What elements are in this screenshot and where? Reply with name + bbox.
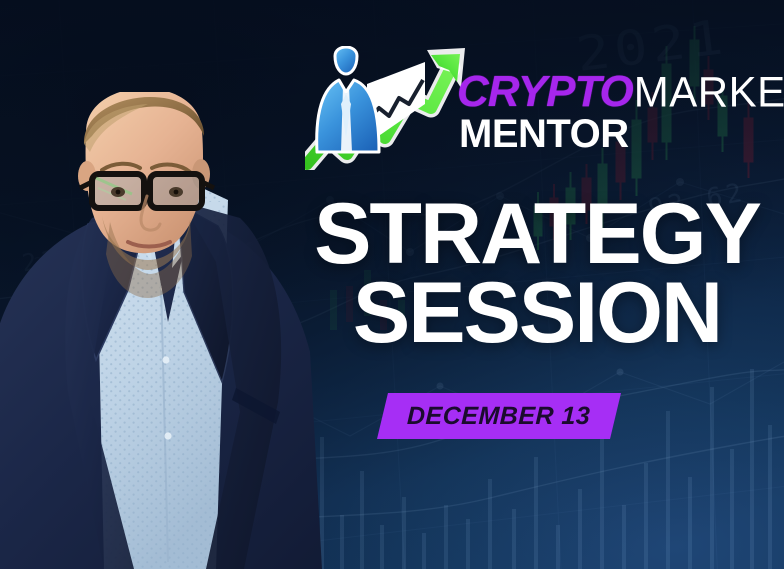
date-banner-label: DECEMBER 13 xyxy=(407,402,591,431)
logo-word-mentor: MENTOR xyxy=(459,114,777,154)
logo-mark-icon xyxy=(305,46,469,170)
headline-line-session: SESSION xyxy=(290,275,784,352)
logo-word-crypto: CRYPTO xyxy=(457,72,633,112)
logo-word-market: MARKET xyxy=(634,73,784,112)
date-banner: DECEMBER 13 xyxy=(377,393,621,439)
headline-line-strategy: STRATEGY xyxy=(290,196,784,273)
brand-logo: CRYPTO MARKET MENTOR xyxy=(305,46,775,178)
promo-graphic-canvas: 2021 92 62 21 234 xyxy=(0,0,784,569)
brand-wordmark: CRYPTO MARKET MENTOR xyxy=(457,72,777,154)
headline-block: STRATEGY SESSION xyxy=(0,196,784,353)
businessman-icon xyxy=(317,47,379,152)
